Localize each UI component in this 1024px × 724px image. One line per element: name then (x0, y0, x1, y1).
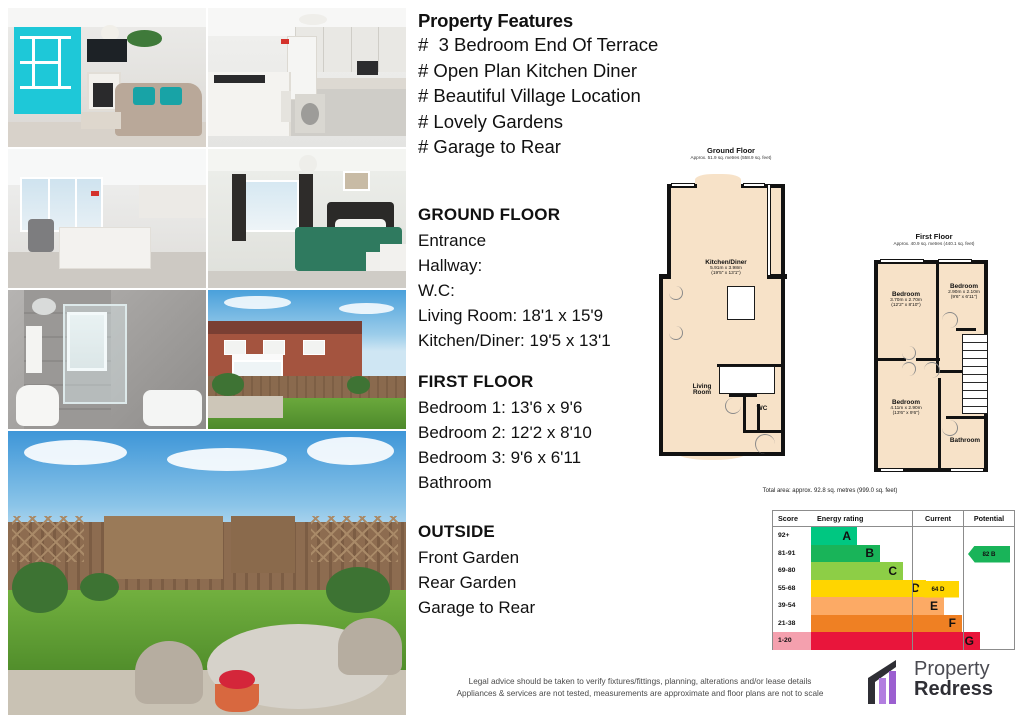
total-area-text: Total area: approx. 92.8 sq. metres (999… (730, 488, 930, 494)
window (743, 183, 765, 187)
door-swing (755, 434, 775, 454)
shed (231, 516, 295, 573)
shrub (212, 373, 244, 395)
kitchen-island (59, 227, 150, 269)
cloud (307, 437, 395, 465)
epc-header-rating: Energy rating (811, 511, 912, 526)
first-plan-canvas: Bedroom 3.70m x 2.70m (12'2" x 8'10") Be… (858, 252, 1010, 480)
epc-header-row: Score Energy rating Current Potential (773, 511, 1014, 527)
trellis (311, 516, 399, 561)
epc-header-score: Score (773, 511, 811, 526)
trellis (12, 516, 84, 561)
staircase (962, 334, 988, 414)
wall (743, 396, 746, 432)
door-swing (902, 362, 916, 376)
ground-floor-plan: Ground Floor Approx. 51.9 sq. metres (55… (655, 146, 807, 476)
feature-item: # Beautiful Village Location (418, 83, 698, 109)
cabinet-divider (323, 27, 324, 71)
pergola (104, 516, 223, 578)
alarm (281, 39, 289, 45)
window (303, 340, 325, 355)
wall (667, 184, 671, 278)
epc-band-bar: D (811, 580, 926, 598)
tea-towel (281, 91, 291, 122)
spacer (418, 495, 698, 519)
bedroom-1-label: Bedroom 4.11m x 2.90m (13'6" x 9'6") (876, 400, 936, 417)
property-redress-logo: Property Redress (866, 658, 1016, 706)
legal-disclaimer: Legal advice should be taken to verify f… (420, 676, 860, 699)
photo-grid (8, 8, 406, 715)
kitchen-diner-label: Kitchen/Diner 5.91m x 3.98m (19'5" x 13'… (679, 260, 773, 277)
bathroom-photo (8, 290, 206, 429)
photo-gallery (8, 8, 406, 716)
bedroom-photo (208, 149, 406, 288)
rear-exterior-photo (208, 290, 406, 429)
bath (143, 390, 202, 426)
legal-line-1: Legal advice should be taken to verify f… (420, 676, 860, 688)
epc-potential-value: 82 B (968, 546, 1010, 563)
coffee-table (81, 112, 121, 129)
fireplace-insert (93, 83, 113, 107)
logo-mark-icon (866, 660, 908, 704)
cloud (339, 303, 394, 314)
wall (781, 184, 785, 276)
towel-radiator (26, 326, 42, 373)
shelf (20, 36, 71, 39)
cabinet-divider (351, 27, 352, 71)
first-floor-plan-title: First Floor (858, 232, 1010, 241)
bedroom-3-imperial: (9'6" x 6'11") (940, 295, 988, 301)
ground-plan-canvas: Kitchen/Diner 5.91m x 3.98m (19'5" x 13'… (655, 168, 807, 476)
wall (946, 416, 988, 419)
window (671, 183, 695, 187)
epc-band-score: 69-80 (773, 562, 811, 580)
epc-header-current: Current (912, 511, 963, 526)
epc-band-score: 92+ (773, 527, 811, 545)
window (938, 259, 972, 263)
epc-band-score: 81-91 (773, 545, 811, 563)
bedroom-2-label: Bedroom 3.70m x 2.70m (12'2" x 8'10") (876, 292, 936, 309)
patio (208, 396, 283, 418)
floor (208, 271, 406, 288)
hob (214, 75, 265, 83)
garden-photo (8, 431, 406, 715)
window (950, 468, 984, 472)
living-room-label: Living Room (675, 384, 729, 395)
epc-current-value: 64 D (917, 581, 959, 598)
patio-chair (338, 618, 402, 675)
wall (956, 328, 976, 331)
wall (659, 276, 663, 456)
epc-potential-column: 82 B (963, 527, 1014, 650)
logo-line-1: Property (914, 659, 993, 679)
alarm (91, 191, 99, 197)
television (87, 39, 127, 63)
epc-chart: Score Energy rating Current Potential 92… (772, 510, 1015, 650)
door-swing (942, 420, 958, 436)
kitchen-unit (727, 286, 755, 320)
living-room-photo (8, 8, 206, 147)
feature-item: # Lovely Gardens (418, 109, 698, 135)
patio-chair (135, 641, 203, 703)
first-floor-plan: First Floor Approx. 40.9 sq. metres (440… (858, 232, 1010, 480)
nightstand (380, 244, 406, 272)
bathroom-label: Bathroom (942, 438, 988, 444)
wall-art (343, 171, 371, 190)
shrub (326, 567, 390, 612)
outside-item: Rear Garden (418, 570, 698, 595)
mirror (32, 298, 56, 315)
wall-cabinets (139, 185, 206, 218)
feature-item: # 3 Bedroom End Of Terrace (418, 32, 698, 58)
epc-body: 92+A81-91B69-80C55-68D39-54E21-38F1-20G … (773, 527, 1014, 650)
toilet (16, 385, 60, 427)
bay-window-area (695, 174, 741, 188)
door-swing (902, 346, 916, 360)
property-brochure-page: Property Features # 3 Bedroom End Of Ter… (0, 0, 1024, 724)
epc-band-bar: C (811, 562, 903, 580)
wall (936, 264, 939, 358)
logo-bars-icon (866, 660, 908, 704)
window (880, 468, 904, 472)
flowers (219, 670, 255, 690)
wall (743, 430, 783, 433)
ground-floor-plan-subtitle: Approx. 51.9 sq. metres (558.9 sq. feet) (655, 155, 807, 160)
epc-band-score: 39-54 (773, 597, 811, 615)
logo-line-2: Redress (914, 679, 993, 700)
door-swing (669, 286, 683, 300)
epc-band-score: 55-68 (773, 580, 811, 598)
wall (874, 358, 906, 361)
cloud (24, 440, 127, 466)
door-swing (669, 326, 683, 340)
outside-item: Front Garden (418, 545, 698, 570)
window (880, 259, 924, 263)
living-room-name2: Room (675, 390, 729, 396)
washing-machine-door (301, 103, 319, 125)
wall (659, 452, 749, 456)
logo-text: Property Redress (914, 659, 993, 700)
epc-band-score: 21-38 (773, 615, 811, 633)
cushion (133, 87, 155, 105)
shower-screen (63, 304, 126, 404)
shrub (12, 562, 68, 613)
bedroom-3-label: Bedroom 2.90m x 2.10m (9'6" x 6'11") (940, 284, 988, 301)
features-title: Property Features (418, 10, 698, 32)
plant (127, 30, 163, 47)
dining-chair (28, 219, 54, 252)
epc-header-potential: Potential (963, 511, 1014, 526)
outside-item: Garage to Rear (418, 595, 698, 620)
wall (659, 274, 671, 279)
shelf (58, 36, 61, 86)
window (244, 180, 299, 233)
door-swing (924, 362, 940, 378)
ceiling-light (299, 14, 327, 25)
epc-band-bar: B (811, 545, 880, 563)
door-swing (725, 398, 741, 414)
shelf (32, 36, 35, 86)
sofa (115, 83, 202, 136)
epc-band-score: 1-20 (773, 632, 811, 650)
door-swing (942, 312, 958, 328)
bathroom-name: Bathroom (942, 438, 988, 444)
kitchen-photo (208, 8, 406, 147)
wc-name: WC (747, 406, 777, 412)
epc-value-columns: 64 D 82 B (912, 527, 1014, 650)
shelf (20, 61, 60, 64)
epc-band-bar: A (811, 527, 857, 545)
conservatory-kitchen-photo (8, 149, 206, 288)
first-floor-plan-subtitle: Approx. 40.9 sq. metres (440.1 sq. feet) (858, 241, 1010, 246)
chandelier (299, 155, 317, 173)
kitchen-diner-imperial: (19'5" x 13'1") (679, 271, 773, 277)
curtain (232, 174, 246, 241)
cabinet-divider (378, 27, 379, 71)
bedroom-1-imperial: (13'6" x 9'6") (876, 411, 936, 417)
wc-label: WC (747, 406, 777, 412)
cloud (224, 296, 291, 310)
cloud (167, 448, 286, 471)
shelf (20, 86, 71, 89)
wall (938, 378, 941, 472)
microwave (357, 61, 379, 75)
feature-item: # Open Plan Kitchen Diner (418, 58, 698, 84)
outside-title: OUTSIDE (418, 519, 698, 545)
bedroom-2-imperial: (12'2" x 8'10") (876, 303, 936, 309)
teal-feature-wall (14, 27, 81, 113)
fridge-freezer (287, 36, 317, 100)
legal-line-2: Appliances & services are not tested, me… (420, 688, 860, 700)
window-mullion (75, 177, 77, 233)
ground-floor-plan-title: Ground Floor (655, 146, 807, 155)
cushion (160, 87, 182, 105)
epc-current-column: 64 D (912, 527, 963, 650)
